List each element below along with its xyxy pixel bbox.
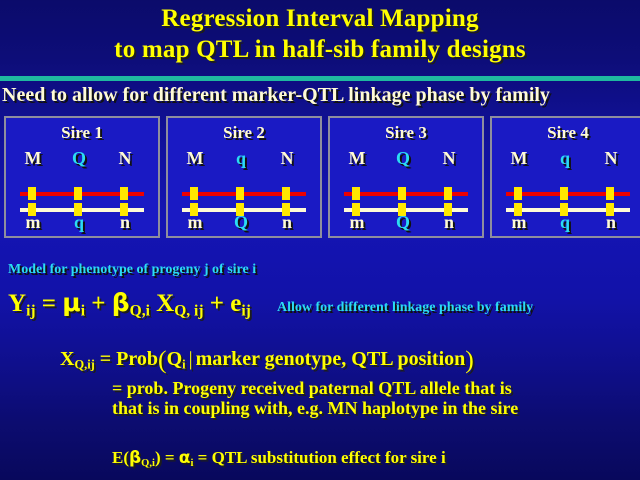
eqx-close-paren: ) <box>465 345 474 374</box>
eqb-tail: QTL substitution effect for sire i <box>212 448 446 467</box>
linkage-phase-note: Allow for different linkage phase by fam… <box>277 300 533 316</box>
allele-row-top: MQN <box>6 148 158 168</box>
locus-tick-bottom-3 <box>282 203 290 216</box>
locus-tick-top-3 <box>282 187 290 200</box>
locus-tick-top-3 <box>444 187 452 200</box>
eq-e-sub: ij <box>241 302 250 319</box>
sire-title: Sire 4 <box>492 123 640 143</box>
eq-x-sub: Q, ij <box>174 302 203 319</box>
eq-mu: μ <box>62 288 80 317</box>
locus-tick-bottom-1 <box>514 203 522 216</box>
eqb-equals-2: = <box>198 448 208 467</box>
sire-title: Sire 3 <box>330 123 482 143</box>
eqx-x-sub: Q,ij <box>74 357 94 371</box>
equation-x-definition: XQ,ij = Prob(Qi|marker genotype, QTL pos… <box>60 345 474 375</box>
eqx-given: marker genotype, QTL position <box>196 348 466 370</box>
eq-plus-1: + <box>91 290 105 317</box>
sire-box-2: Sire 2MqNmQn <box>166 116 322 238</box>
locus-tick-top-2 <box>560 187 568 200</box>
locus-tick-bottom-2 <box>560 203 568 216</box>
locus-tick-bottom-3 <box>120 203 128 216</box>
allele-row-top: MqN <box>492 148 640 168</box>
sire-title: Sire 2 <box>168 123 320 143</box>
eqb-beta-sub: Q,i <box>141 458 155 469</box>
locus-tick-bottom-2 <box>236 203 244 216</box>
model-description-label: Model for phenotype of progeny j of sire… <box>8 262 256 278</box>
locus-tick-top-2 <box>398 187 406 200</box>
locus-tick-top-1 <box>352 187 360 200</box>
eqb-beta: β <box>129 448 141 468</box>
eq-equals-1: = <box>42 290 56 317</box>
eq-e: e <box>230 290 241 317</box>
locus-tick-bottom-2 <box>74 203 82 216</box>
eqx-q: Q <box>167 348 183 370</box>
locus-tick-top-3 <box>120 187 128 200</box>
allele-top-3: N <box>596 148 626 169</box>
equation-beta-expectation: E(βQ,i) = αi = QTL substitution effect f… <box>112 448 446 469</box>
allele-top-2: Q <box>64 148 94 169</box>
eq-y: Y <box>8 290 26 317</box>
eq-plus-2: + <box>210 290 224 317</box>
locus-tick-top-2 <box>74 187 82 200</box>
title-divider-rule <box>0 76 640 81</box>
sire-box-3: Sire 3MQNmQn <box>328 116 484 238</box>
allele-top-3: N <box>434 148 464 169</box>
allele-top-1: M <box>180 148 210 169</box>
eqb-equals-1: = <box>165 448 175 467</box>
locus-tick-bottom-1 <box>352 203 360 216</box>
allele-top-2: Q <box>388 148 418 169</box>
title-line-1: Regression Interval Mapping <box>0 3 640 34</box>
eqx-open-paren: ( <box>158 345 167 374</box>
slide-subtitle: Need to allow for different marker-QTL l… <box>2 84 640 107</box>
allele-row-top: MqN <box>168 148 320 168</box>
title-line-2: to map QTL in half-sib family designs <box>0 34 640 65</box>
allele-top-3: N <box>272 148 302 169</box>
sire-title: Sire 1 <box>6 123 158 143</box>
locus-tick-top-2 <box>236 187 244 200</box>
locus-tick-bottom-3 <box>606 203 614 216</box>
allele-top-1: M <box>342 148 372 169</box>
allele-top-3: N <box>110 148 140 169</box>
slide-title: Regression Interval Mapping to map QTL i… <box>0 3 640 65</box>
allele-top-1: M <box>18 148 48 169</box>
eqx-equals: = <box>100 348 111 370</box>
allele-top-2: q <box>226 148 256 169</box>
equation-phenotype-model: Yij = μi + βQ,i XQ, ij + eij <box>8 288 251 320</box>
sire-box-1: Sire 1MQNmqn <box>4 116 160 238</box>
slide-canvas: Regression Interval Mapping to map QTL i… <box>0 0 640 480</box>
locus-tick-bottom-2 <box>398 203 406 216</box>
eqb-alpha: α <box>179 448 191 468</box>
eqx-x: X <box>60 348 74 370</box>
locus-tick-top-1 <box>28 187 36 200</box>
eqx-prob: Prob <box>116 348 158 370</box>
eqx-conditional-bar: | <box>186 348 196 370</box>
locus-tick-top-1 <box>190 187 198 200</box>
prob-explanation-line-1: = prob. Progeny received paternal QTL al… <box>112 378 512 399</box>
eq-beta-sub: Q,i <box>130 302 150 319</box>
sire-box-4: Sire 4MqNmqn <box>490 116 640 238</box>
locus-tick-bottom-1 <box>190 203 198 216</box>
eqb-e: E( <box>112 448 129 467</box>
eqb-close-paren: ) <box>155 448 161 467</box>
allele-top-1: M <box>504 148 534 169</box>
eq-y-sub: ij <box>26 302 35 319</box>
prob-explanation-line-2: that is in coupling with, e.g. MN haplot… <box>112 398 518 419</box>
locus-tick-top-3 <box>606 187 614 200</box>
allele-row-top: MQN <box>330 148 482 168</box>
locus-tick-bottom-3 <box>444 203 452 216</box>
eq-x: X <box>156 290 174 317</box>
locus-tick-top-1 <box>514 187 522 200</box>
allele-top-2: q <box>550 148 580 169</box>
eq-mu-sub: i <box>81 302 85 319</box>
eqb-alpha-sub: i <box>190 458 193 469</box>
locus-tick-bottom-1 <box>28 203 36 216</box>
eq-beta: β <box>112 288 130 317</box>
